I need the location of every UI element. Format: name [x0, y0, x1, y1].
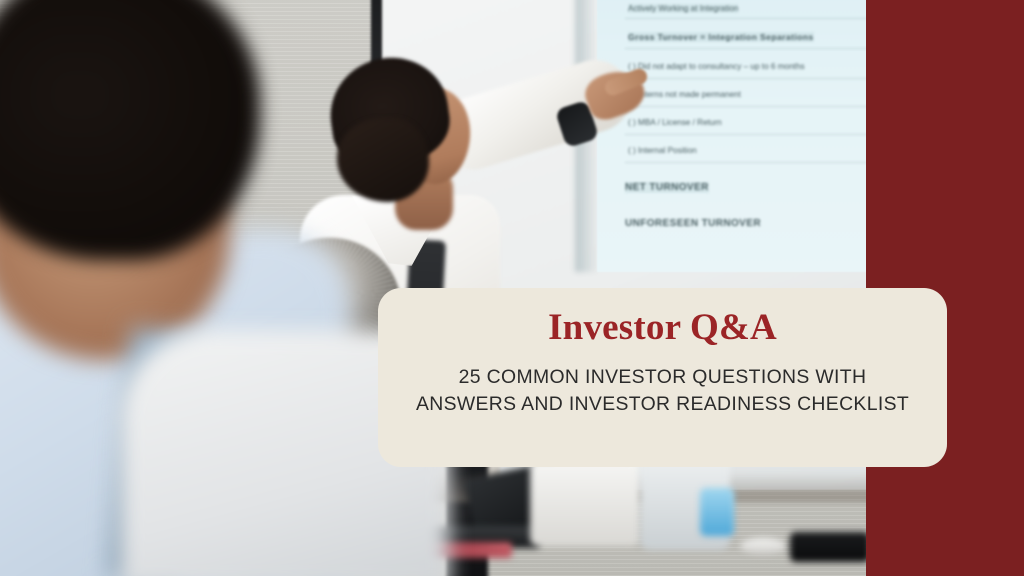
slide-line-7: NET TURNOVER — [625, 182, 709, 193]
blue-bottle — [700, 488, 734, 536]
page-title: Investor Q&A — [548, 309, 777, 348]
presenter-hair-lower — [337, 118, 429, 202]
saucer — [740, 538, 786, 554]
projected-slide-text: Actively Working at Integration Gross Tu… — [597, 0, 887, 272]
slide-line-3: ( ) Did not adapt to consultancy – up to… — [628, 62, 805, 71]
slide-line-2: Gross Turnover = Integration Separations — [628, 32, 814, 42]
slide-line-1: Actively Working at Integration — [628, 4, 738, 13]
slide-line-6: ( ) Internal Position — [628, 146, 697, 155]
slide-line-5: ( ) MBA / License / Return — [628, 118, 722, 127]
screenshot-root: Actively Working at Integration Gross Tu… — [0, 0, 1024, 576]
slide-line-4: ( ) Interns not made permanent — [628, 90, 741, 99]
paper-stack — [530, 460, 640, 546]
page-subtitle: 25 COMMON INVESTOR QUESTIONS WITH ANSWER… — [413, 364, 913, 419]
title-card: Investor Q&A 25 COMMON INVESTOR QUESTION… — [378, 288, 947, 467]
cable — [790, 532, 870, 562]
slide-line-8: UNFORESEEN TURNOVER — [625, 218, 761, 229]
